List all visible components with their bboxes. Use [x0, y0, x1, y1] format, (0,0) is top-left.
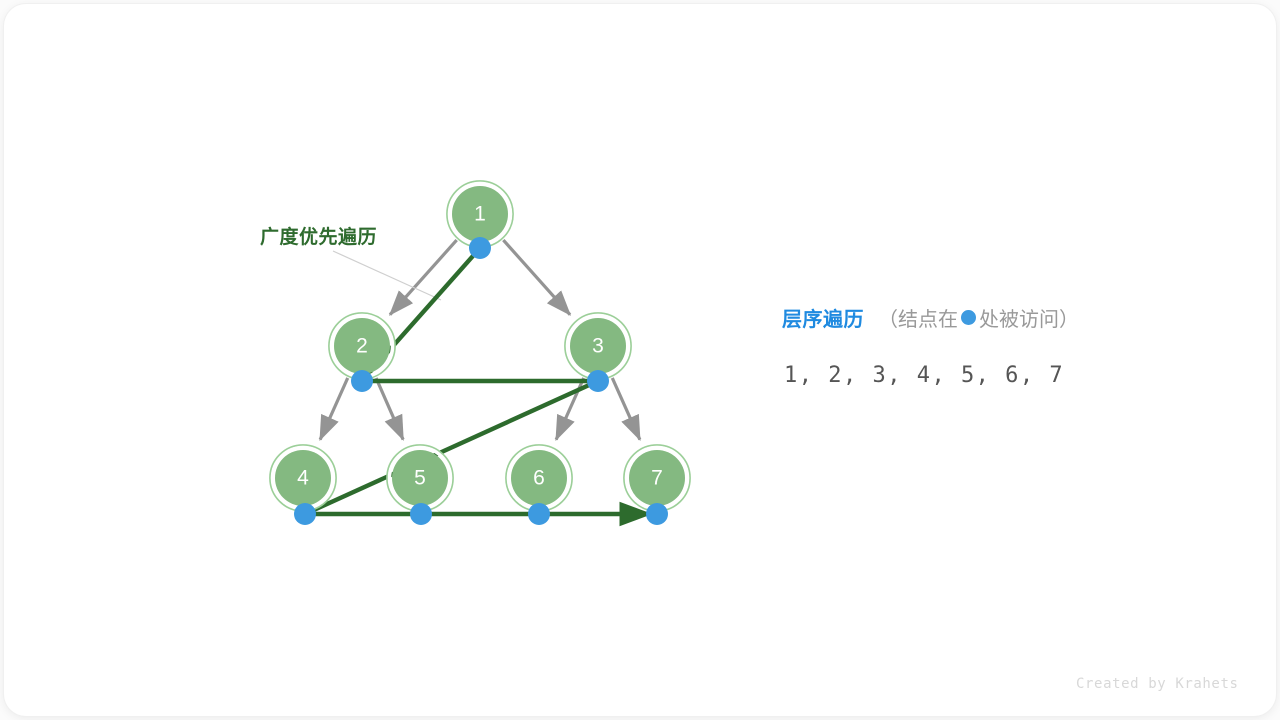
node-circle-6: [511, 450, 567, 506]
tree-edge-1-3: [503, 240, 570, 315]
traversal-sequence: 1, 2, 3, 4, 5, 6, 7: [784, 363, 1064, 388]
tree-edge-1-2: [390, 240, 457, 315]
node-circle-7: [629, 450, 685, 506]
node-circle-3: [570, 318, 626, 374]
visit-dot-7: [646, 503, 668, 525]
visit-dot-6: [528, 503, 550, 525]
legend-note: （结点在 处被访问）: [878, 303, 1079, 332]
tree-edge-3-7: [612, 378, 640, 440]
legend-note-suffix: 处被访问）: [979, 303, 1079, 332]
slide-canvas: 1234567 广度优先遍历 层序遍历 （结点在 处被访问） 1, 2, 3, …: [0, 0, 1280, 720]
bfs-annotation-label: 广度优先遍历: [260, 222, 377, 249]
visit-dot-icon: [961, 310, 976, 325]
legend-row: 层序遍历 （结点在 处被访问）: [782, 303, 1079, 332]
visit-dot-5: [410, 503, 432, 525]
node-circle-1: [452, 186, 508, 242]
legend-note-prefix: （结点在: [878, 303, 958, 332]
legend-title: 层序遍历: [782, 303, 864, 332]
node-circle-4: [275, 450, 331, 506]
credit-text: Created by Krahets: [1076, 676, 1239, 692]
visit-dot-4: [294, 503, 316, 525]
visit-dot-3: [587, 370, 609, 392]
tree-edge-2-4: [320, 378, 348, 440]
visit-dot-1: [469, 237, 491, 259]
visit-dot-2: [351, 370, 373, 392]
node-circle-2: [334, 318, 390, 374]
tree-diagram: [0, 0, 1280, 720]
tree-edge-2-5: [376, 378, 403, 440]
node-circle-5: [392, 450, 448, 506]
